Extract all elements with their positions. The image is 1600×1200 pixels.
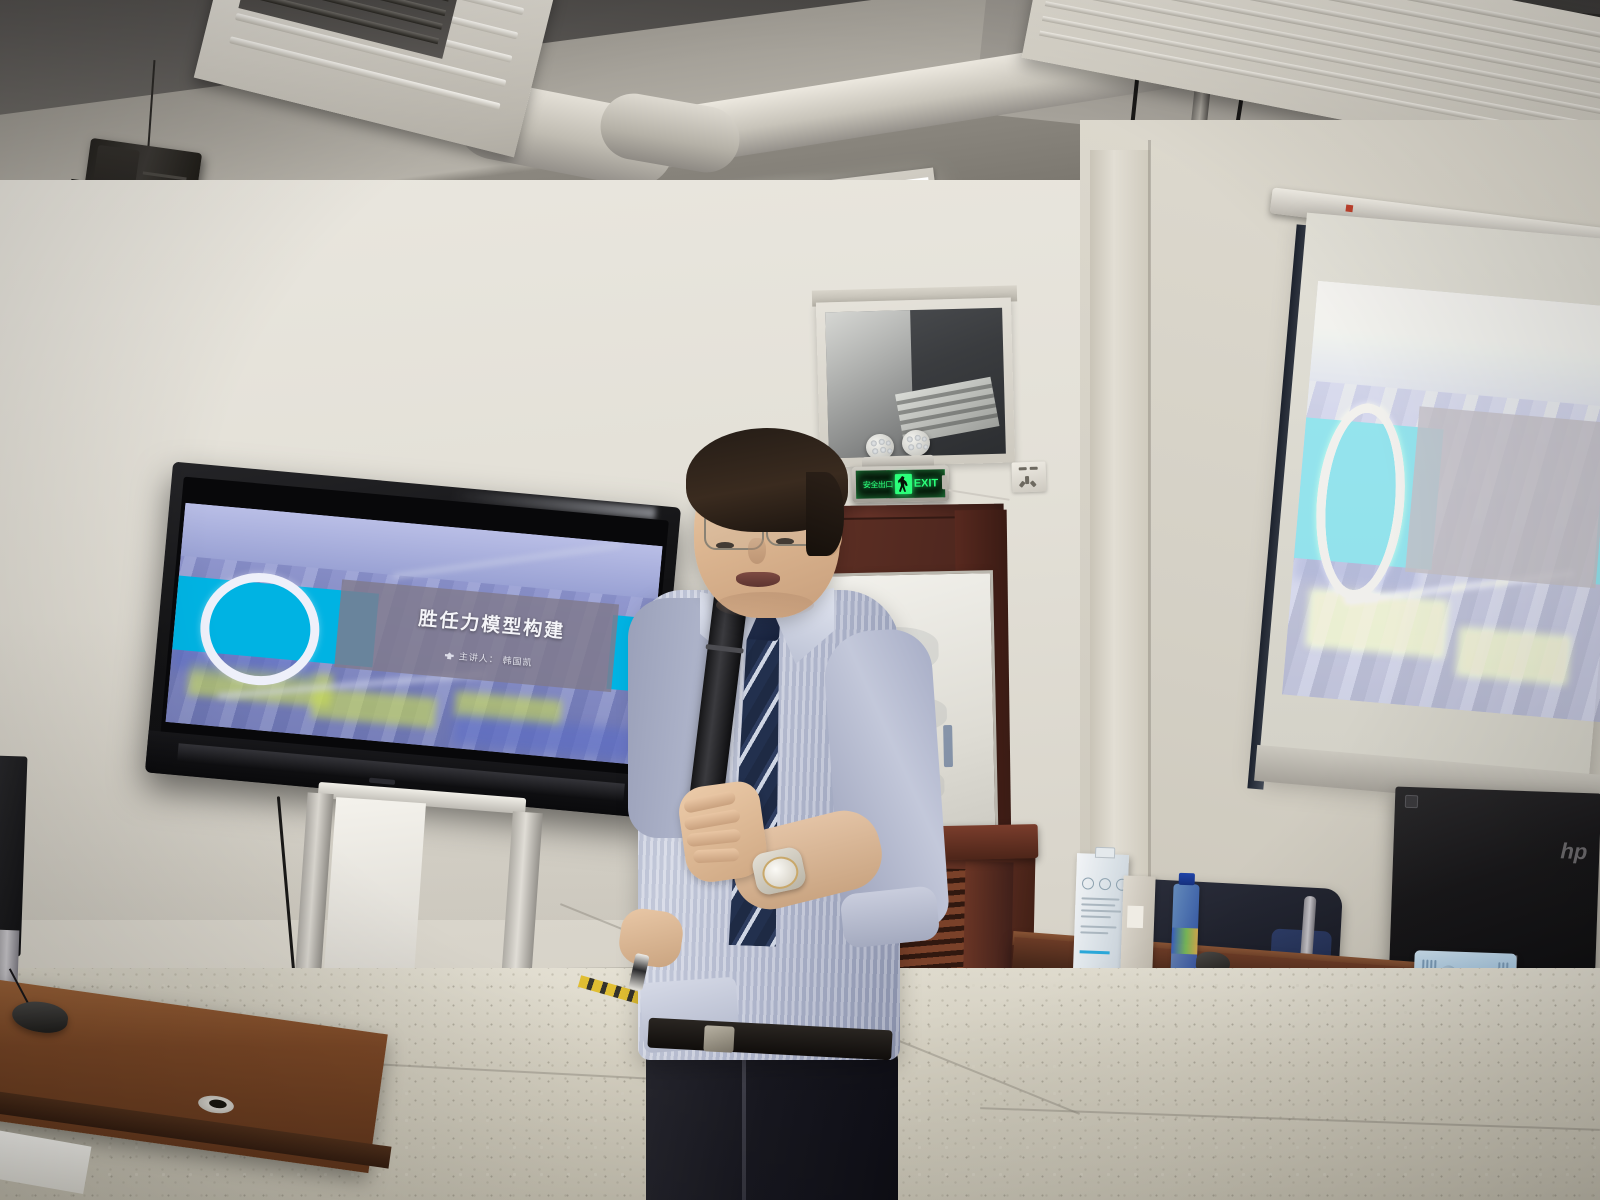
monitor-brand-logo: hp <box>1560 838 1588 865</box>
room-photo-scene: 安全出口 EXIT <box>0 0 1600 1200</box>
belt-buckle <box>703 1025 734 1053</box>
projector-screen <box>1258 213 1600 800</box>
people-group-icon <box>445 652 455 660</box>
monitor-camera-icon <box>1405 795 1418 808</box>
presentation-slide: 胜任力模型构建 主讲人： 韩国凯 <box>166 503 663 766</box>
presenter <box>620 420 950 1200</box>
tv-cart-panel <box>324 797 426 978</box>
presenter-trousers <box>646 1044 898 1200</box>
display-screen: 胜任力模型构建 主讲人： 韩国凯 <box>166 503 663 766</box>
projected-slide <box>1281 281 1600 723</box>
power-outlet[interactable] <box>1011 461 1046 492</box>
paper-pouch[interactable] <box>1120 875 1155 972</box>
flat-panel-display[interactable]: 胜任力模型构建 主讲人： 韩国凯 <box>145 462 681 819</box>
